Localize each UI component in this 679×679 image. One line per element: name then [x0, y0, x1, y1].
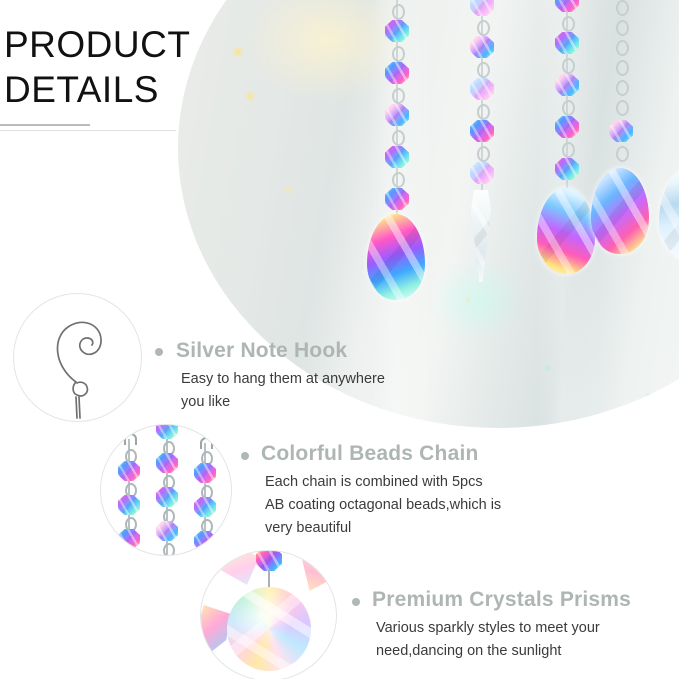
crystal-strand [566, 0, 568, 212]
feature-heading: Colorful Beads Chain [261, 442, 479, 466]
bead-chain [128, 439, 130, 556]
bead-chain [204, 443, 206, 555]
crystal-strand [481, 0, 483, 204]
feature-body: Easy to hang them at anywhere you like [181, 368, 385, 414]
feature-body: Various sparkly styles to meet your need… [376, 617, 600, 663]
top-bead [256, 550, 282, 571]
bead-chain [166, 424, 168, 556]
product-details-page: PRODUCT DETAILS Silver Note Hook Easy to… [0, 0, 679, 679]
crystal-strand [396, 0, 398, 222]
hero-photo [178, 0, 679, 428]
hero-photo-inner [178, 0, 679, 428]
crystal-ball [227, 587, 311, 671]
title-divider-secondary [0, 130, 176, 131]
crystal-shard [219, 550, 259, 585]
premium-crystal-prism-icon [200, 550, 337, 679]
feature-body: Each chain is combined with 5pcs AB coat… [265, 471, 501, 540]
bullet-dot-icon [352, 598, 360, 606]
silver-note-hook-icon [13, 293, 142, 422]
title-divider-primary [0, 124, 90, 126]
crystal-strand [620, 0, 622, 196]
bullet-dot-icon [155, 348, 163, 356]
bullet-dot-icon [241, 452, 249, 460]
feature-heading: Silver Note Hook [176, 339, 347, 363]
page-title: PRODUCT DETAILS [4, 22, 190, 112]
crystal-shard [297, 550, 333, 591]
feature-heading: Premium Crystals Prisms [372, 588, 631, 612]
colorful-beads-chain-icon [100, 424, 232, 556]
